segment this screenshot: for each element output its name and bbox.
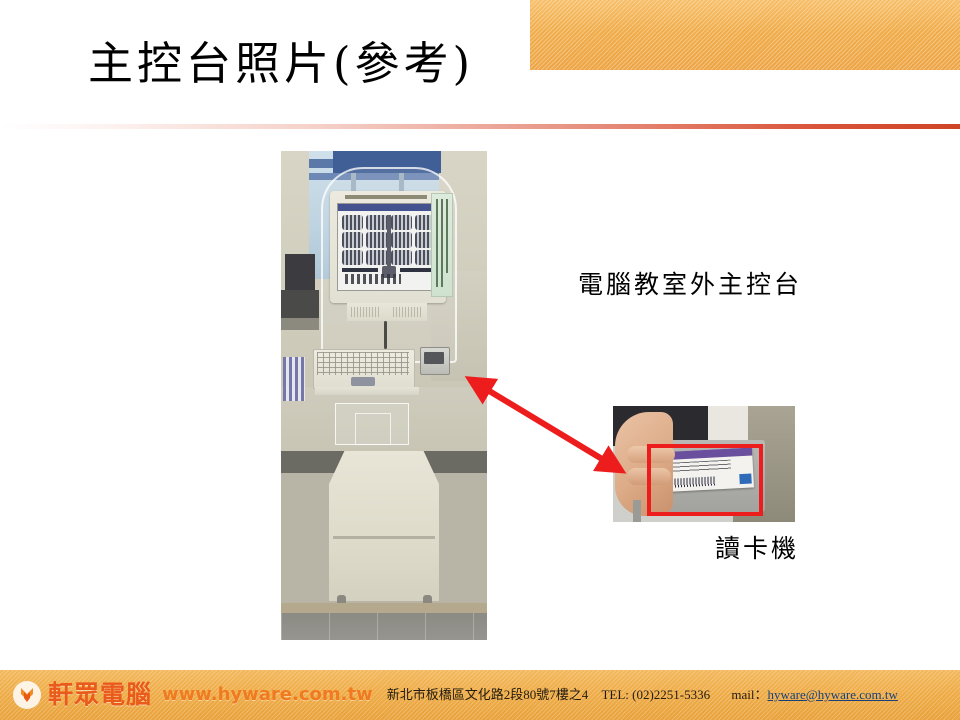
company-email-link[interactable]: hyware@hyware.com.tw — [768, 687, 898, 702]
company-website-url[interactable]: www.hyware.com.tw — [162, 684, 373, 706]
mail-label: mail： — [731, 687, 767, 702]
title-divider-line — [0, 124, 960, 129]
company-telephone: TEL: (02)2251-5336 — [601, 687, 710, 702]
card-reader-closeup-photo — [613, 406, 795, 522]
footer-bar: 軒眾電腦 www.hyware.com.tw 新北市板橋區文化路2段80號7樓之… — [0, 670, 960, 720]
photo-seat-block — [391, 232, 412, 247]
photo-skirting — [281, 603, 487, 613]
slide-title: 主控台照片(參考) — [88, 29, 728, 99]
photo-signage-text-line — [436, 199, 438, 287]
photo-vent-left — [351, 307, 381, 317]
photo-keyboard-tray — [315, 387, 419, 395]
photo-signage-text-line — [446, 199, 448, 273]
photo-seat-block — [342, 232, 363, 247]
photo-equipment-box — [285, 254, 315, 290]
photo-touchpad — [351, 377, 375, 386]
photo-pedestal-seam — [333, 536, 435, 539]
slide-canvas: 主控台照片(參考) — [0, 0, 960, 720]
photo-kiosk-pedestal — [329, 451, 439, 601]
photo-monitor-header-strip — [345, 195, 427, 199]
photo-screen-titlebar — [338, 204, 440, 211]
company-name: 軒眾電腦 — [48, 680, 152, 710]
photo-seat-block — [366, 215, 387, 230]
photo-seat-block — [342, 215, 363, 230]
inset-reader-stand — [633, 500, 641, 522]
annotation-label-card-reader: 讀卡機 — [715, 532, 799, 566]
photo-signage-text-line — [441, 199, 443, 287]
photo-screen-bar-left — [342, 268, 378, 272]
photo-monitor-screen — [337, 203, 441, 291]
photo-seat-block — [366, 250, 387, 265]
photo-desk-left — [281, 290, 319, 318]
photo-cable — [384, 321, 387, 349]
photo-seat-block — [391, 250, 412, 265]
photo-seat-block — [366, 232, 387, 247]
photo-seat-block — [342, 250, 363, 265]
photo-card-reader-slot — [424, 352, 444, 364]
footer-contact-info: 新北市板橋區文化路2段80號7樓之4 TEL: (02)2251-5336 ma… — [387, 685, 898, 705]
company-address: 新北市板橋區文化路2段80號7樓之4 — [387, 687, 589, 702]
photo-desk-left-edge — [281, 318, 319, 330]
kiosk-console-photo — [281, 151, 487, 640]
photo-cloth — [283, 357, 305, 401]
company-logo-icon — [12, 680, 42, 710]
photo-screen-system-logo — [345, 274, 401, 284]
annotation-label-console: 電腦教室外主控台 — [578, 268, 802, 302]
inset-red-highlight-box — [647, 444, 763, 516]
photo-vent-right — [393, 307, 423, 317]
photo-seat-block — [391, 215, 412, 230]
photo-lower-shelf-inner — [355, 413, 391, 445]
photo-floor-foreground — [281, 613, 487, 640]
photo-keyboard-keys — [317, 352, 409, 375]
